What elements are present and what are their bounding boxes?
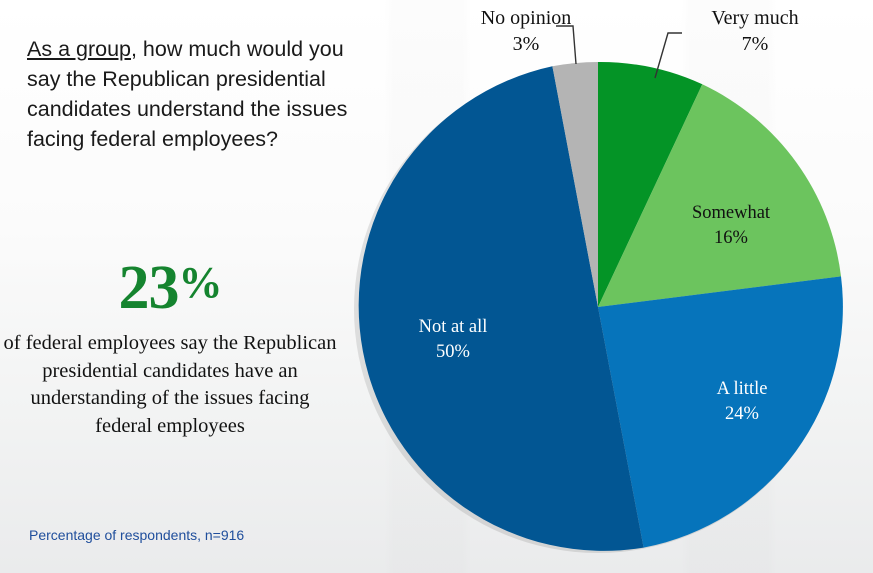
headline-statistic-description: of federal employees say the Republican … (0, 330, 340, 440)
slice-label-not-at-all: Not at all (419, 317, 488, 337)
question-emphasis: As a group (27, 37, 131, 61)
slice-label-somewhat: Somewhat (692, 203, 771, 223)
leader-line-no-opinion (556, 26, 576, 64)
chart-footnote: Percentage of respondents, n=916 (29, 527, 244, 543)
headline-statistic: 23% (0, 252, 340, 319)
slice-callout-value-very-much: 7% (742, 33, 769, 55)
headline-statistic-percent-symbol: % (179, 258, 222, 307)
slice-value-a-little: 24% (725, 404, 759, 424)
headline-statistic-number: 23 (119, 254, 179, 322)
slice-callout-value-no-opinion: 3% (513, 33, 540, 55)
slice-value-not-at-all: 50% (436, 342, 470, 362)
slice-callout-label-very-much: Very much (711, 7, 798, 29)
slice-label-a-little: A little (717, 379, 768, 399)
slice-value-somewhat: 16% (714, 228, 748, 248)
question-text: As a group, how much would you say the R… (27, 34, 357, 154)
slice-callout-label-no-opinion: No opinion (481, 7, 572, 29)
pie-chart: No opinion 3% Very much 7% Somewhat 16% … (330, 0, 873, 573)
pie-chart-svg: No opinion 3% Very much 7% Somewhat 16% … (330, 0, 873, 573)
